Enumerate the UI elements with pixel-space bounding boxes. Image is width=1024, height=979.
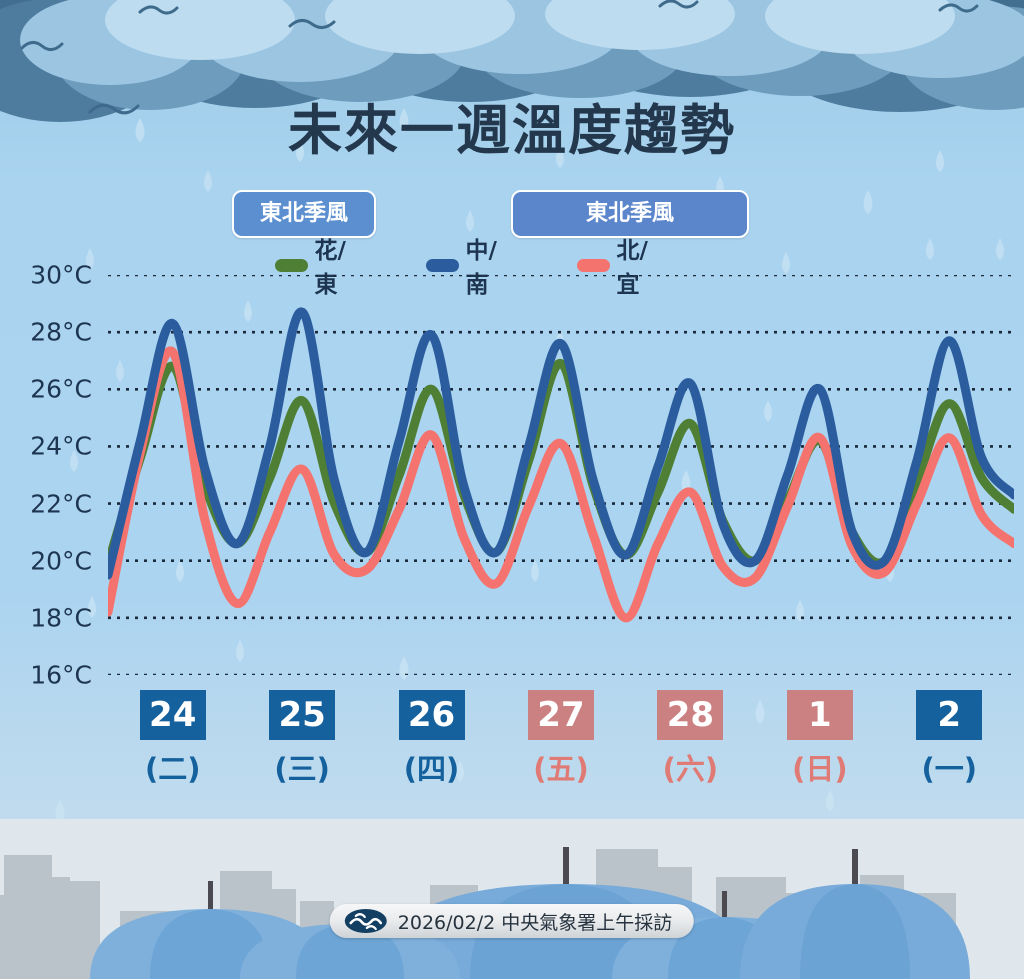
legend-swatch-green <box>275 259 308 272</box>
y-tick-label: 18°C <box>30 603 92 632</box>
footer-text: 2026/02/2 中央氣象署上午採訪 <box>398 908 672 935</box>
date-chip: 2 <box>916 690 982 740</box>
date-chip: 24 <box>140 690 206 740</box>
date-chip: 1 <box>787 690 853 740</box>
y-tick-label: 16°C <box>30 661 92 690</box>
y-tick-label: 20°C <box>30 546 92 575</box>
date-column[interactable]: 1(日) <box>755 690 884 810</box>
footer-credit: 2026/02/2 中央氣象署上午採訪 <box>330 904 694 938</box>
date-axis: 24(二)25(三)26(四)27(五)28(六)1(日)2(一) <box>108 690 1014 810</box>
date-weekday-label: (四) <box>404 746 460 788</box>
date-column[interactable]: 27(五) <box>496 690 625 810</box>
chart-plot-area <box>108 275 1014 675</box>
date-column[interactable]: 28(六) <box>626 690 755 810</box>
temperature-chart: 30°C28°C26°C24°C22°C20°C18°C16°C <box>0 275 1024 675</box>
weather-infographic: 未來一週溫度趨勢 東北季風 東北季風 花/東 中/南 北/宜 30°C28°C2… <box>0 0 1024 979</box>
date-chip: 27 <box>528 690 594 740</box>
date-column[interactable]: 26(四) <box>367 690 496 810</box>
date-column[interactable]: 24(二) <box>108 690 237 810</box>
date-chip: 26 <box>399 690 465 740</box>
date-weekday-label: (五) <box>533 746 589 788</box>
date-weekday-label: (一) <box>921 746 977 788</box>
chart-svg <box>108 275 1014 675</box>
date-chip: 25 <box>269 690 335 740</box>
date-weekday-label: (三) <box>274 746 330 788</box>
y-axis-labels: 30°C28°C26°C24°C22°C20°C18°C16°C <box>0 275 100 675</box>
date-weekday-label: (二) <box>145 746 201 788</box>
legend-swatch-blue <box>426 259 459 272</box>
cwa-wave-logo <box>344 908 388 934</box>
legend-swatch-red <box>577 259 610 272</box>
y-tick-label: 30°C <box>30 261 92 290</box>
page-title: 未來一週溫度趨勢 <box>0 86 1024 165</box>
date-weekday-label: (六) <box>663 746 719 788</box>
cityscape-umbrella-decoration <box>0 819 1024 979</box>
y-tick-label: 22°C <box>30 489 92 518</box>
date-column[interactable]: 25(三) <box>237 690 366 810</box>
y-tick-label: 28°C <box>30 318 92 347</box>
date-column[interactable]: 2(一) <box>885 690 1014 810</box>
y-tick-label: 24°C <box>30 432 92 461</box>
date-chip: 28 <box>657 690 723 740</box>
series-line-bei-yi <box>108 351 1014 618</box>
date-weekday-label: (日) <box>792 746 848 788</box>
y-tick-label: 26°C <box>30 375 92 404</box>
